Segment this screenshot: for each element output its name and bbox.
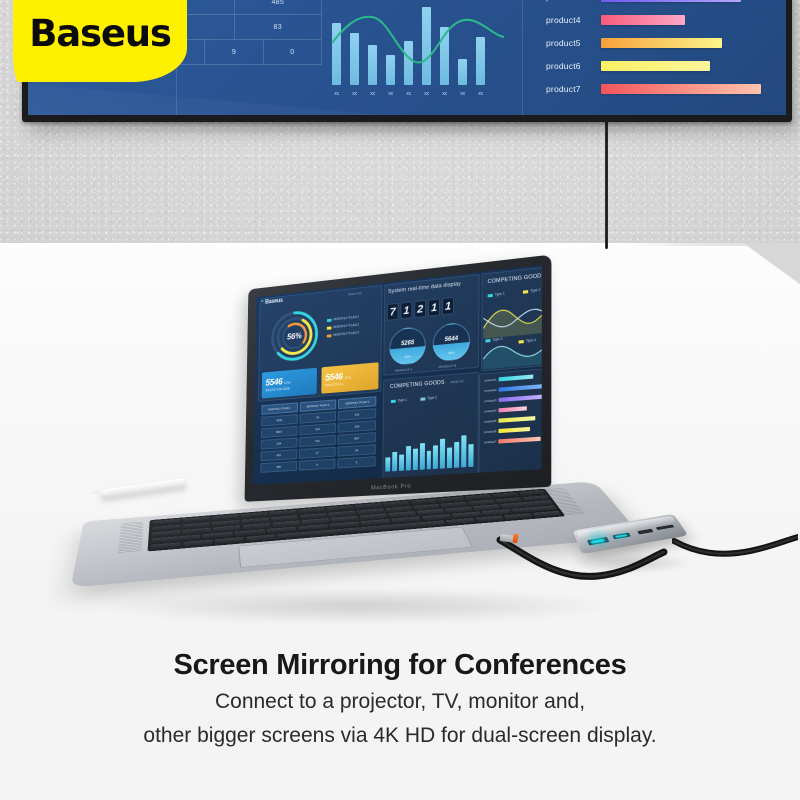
legend-swatch xyxy=(327,334,332,337)
legend-label: MONTHLY PLAN 2 xyxy=(333,323,359,330)
tv-chart-tick: xx xyxy=(404,91,413,97)
table-cell: 0 xyxy=(338,456,376,468)
dashboard-product-track xyxy=(499,383,542,392)
caption-body-line-1: Connect to a projector, TV, monitor and, xyxy=(0,687,800,717)
baseus-logo-text: Baseus xyxy=(29,12,170,55)
tv-shadow xyxy=(28,122,790,138)
tv-product-bar xyxy=(601,15,685,25)
tv-product-row: product6 xyxy=(546,54,786,77)
tv-product-row: product5 xyxy=(546,31,786,54)
table-cell: 9 xyxy=(299,459,336,471)
competing-goods-bar xyxy=(419,443,424,470)
table-cell: 485 xyxy=(235,0,323,15)
dashboard-product-track xyxy=(499,393,542,402)
dashboard-product-label: product4 xyxy=(481,408,499,413)
caption-block: Screen Mirroring for Conferences Connect… xyxy=(0,648,800,750)
tv-product-bar xyxy=(601,0,741,2)
laptop-lid: Baseus xxxxx xxx 56% MONTHLY PLAN 1M xyxy=(245,255,552,502)
table-cell: 234 xyxy=(261,438,297,450)
table-cell: 83 xyxy=(235,15,323,40)
keyboard-key[interactable] xyxy=(151,542,181,549)
tv-product-label: product6 xyxy=(546,61,601,71)
kpi-value: 5546 xyxy=(325,371,342,382)
dashboard-product-label: product3 xyxy=(481,398,499,403)
tv-product-bar xyxy=(601,61,710,71)
tv-product-label: product3 xyxy=(546,0,601,2)
donut-gauge: 56% xyxy=(269,307,319,364)
dashboard-logo-dot xyxy=(262,300,264,302)
legend-label: Type 2 xyxy=(427,395,437,400)
tv-product-bar xyxy=(601,38,722,48)
kpi-card-sales-volume: 5546 12% SALES VOLUME xyxy=(262,368,317,399)
dashboard-product-label: product5 xyxy=(481,419,499,424)
dashboard-product-track xyxy=(498,414,541,423)
table-cell: 318 xyxy=(338,420,376,433)
tv-chart-tick: xx xyxy=(350,91,359,97)
caption-headline: Screen Mirroring for Conferences xyxy=(0,648,800,683)
donut-gauge-value: 56% xyxy=(269,307,319,364)
legend-label: Type 1 xyxy=(398,398,407,403)
keyboard-key[interactable] xyxy=(215,537,245,544)
table-cell: 786 xyxy=(260,461,296,473)
table-header-cell: MONTHLY PLAN 3 xyxy=(338,396,376,409)
tv-chart-tick: xx xyxy=(422,91,431,97)
monthly-plan-table: MONTHLY PLAN 1MONTHLY PLAN 2MONTHLY PLAN… xyxy=(260,396,376,473)
table-cell: 9 xyxy=(205,40,263,65)
tv-chart-tick: xx xyxy=(458,91,467,97)
table-cell: 421 xyxy=(338,408,376,421)
dashboard-product-track xyxy=(498,425,541,434)
tv-chart-trend-line xyxy=(328,0,506,99)
realtime-digit: 1 xyxy=(428,298,440,316)
table-cell: 4556 xyxy=(261,414,297,426)
competing-goods-bar xyxy=(440,439,445,469)
tv-product-label: product5 xyxy=(546,38,601,48)
competing-goods-bar xyxy=(406,446,411,470)
competing-goods-bar xyxy=(468,444,473,467)
tv-chart-tick-labels: xxxxxxxxxxxxxxxxxx xyxy=(332,91,510,97)
keyboard-key[interactable] xyxy=(183,539,213,546)
tv-product-row: product3 xyxy=(546,0,786,8)
kpi-card-practical: 5546 12% PRACTICAL xyxy=(321,362,378,393)
legend-item: MONTHLY PLAN 3 xyxy=(327,331,359,338)
legend-swatch xyxy=(327,326,332,329)
tv-chart-tick: xx xyxy=(440,91,449,97)
competing-goods-bar xyxy=(385,458,390,472)
legend-swatch xyxy=(523,290,528,294)
tv-product-track xyxy=(601,84,786,94)
tv-product-bar xyxy=(601,84,761,94)
legend-swatch xyxy=(485,338,490,342)
hub-port-hdmi[interactable] xyxy=(637,529,653,535)
baseus-logo: Baseus xyxy=(13,0,187,82)
tv-product-row: product7 xyxy=(546,77,786,100)
competing-goods-bar xyxy=(447,447,452,468)
dashboard-product-bar xyxy=(498,436,540,443)
hub-output-cable xyxy=(672,523,798,571)
dashboard-product-track xyxy=(498,435,542,444)
dashboard-product-bar xyxy=(499,384,542,392)
table-cell: 0 xyxy=(264,40,322,65)
dashboard-product-bar xyxy=(498,416,535,423)
dashboard-product-track xyxy=(499,372,542,382)
competing-goods-bar xyxy=(392,452,397,471)
legend-swatch xyxy=(420,397,425,400)
water-gauge-percent: 45% xyxy=(448,350,454,355)
caption-body-line-2: other bigger screens via 4K HD for dual-… xyxy=(0,721,800,751)
tv-product-label: product7 xyxy=(546,84,601,94)
realtime-digit: 2 xyxy=(414,300,426,318)
tv-product-track xyxy=(601,38,786,48)
tv-product-track xyxy=(601,15,786,25)
tv-chart-tick: xx xyxy=(476,91,485,97)
legend-swatch xyxy=(391,399,396,402)
dashboard-product-bar xyxy=(499,374,534,381)
keyboard-key[interactable] xyxy=(532,511,561,518)
table-body: 4556764215967234318234712887453172478690 xyxy=(260,408,376,473)
table-cell: 453 xyxy=(261,449,297,461)
tv-product-label: product4 xyxy=(546,15,601,25)
table-cell: 887 xyxy=(338,432,376,444)
tv-product-track xyxy=(601,0,786,2)
dashboard-product-label: product6 xyxy=(481,429,499,434)
table-cell: 712 xyxy=(299,435,336,447)
water-gauge-percent: 45% xyxy=(404,354,410,359)
realtime-digit: 7 xyxy=(387,303,399,321)
competing-goods-bar-chart xyxy=(385,407,473,472)
realtime-digit: 1 xyxy=(442,297,454,315)
tv-chart-tick: xx xyxy=(386,91,395,97)
kpi-percent: 12% xyxy=(284,381,290,385)
competing-goods-bar xyxy=(399,455,404,471)
dashboard-product-track xyxy=(499,404,542,413)
table-header-cell: MONTHLY PLAN 2 xyxy=(299,399,336,412)
table-cell: 5967 xyxy=(261,426,297,438)
water-gauge-value: 5644 xyxy=(445,335,459,342)
tv-product-track xyxy=(601,61,786,71)
legend-swatch xyxy=(488,293,493,297)
wave-chart-upper xyxy=(483,293,542,338)
legend-swatch xyxy=(519,340,524,344)
realtime-digit: 1 xyxy=(400,301,412,319)
desk-edge xyxy=(0,243,800,246)
keyboard-key[interactable] xyxy=(246,534,276,541)
dashboard-product-label: product2 xyxy=(481,388,499,393)
tv-product-row: product4 xyxy=(546,8,786,31)
legend-item: MONTHLY PLAN 2 xyxy=(327,323,359,330)
table-cell: 17 xyxy=(299,447,336,459)
dashboard-legend: MONTHLY PLAN 1MONTHLY PLAN 2MONTHLY PLAN… xyxy=(327,315,360,342)
table-header-cell: MONTHLY PLAN 1 xyxy=(261,402,297,414)
dashboard-product-bar xyxy=(499,406,527,413)
competing-goods-bar xyxy=(461,435,466,467)
competing-goods-bar xyxy=(433,446,438,469)
dashboard-product-bars: product1product2product3product4product5… xyxy=(481,369,542,447)
legend-label: MONTHLY PLAN 3 xyxy=(333,331,359,337)
dashboard-product-label: product7 xyxy=(481,439,499,444)
laptop-screen: Baseus xxxxx xxx 56% MONTHLY PLAN 1M xyxy=(253,265,542,485)
competing-goods-bar xyxy=(454,442,459,468)
tv-product-bar-chart: product3product4product5product6product7 xyxy=(546,0,786,100)
dashboard: Baseus xxxxx xxx 56% MONTHLY PLAN 1M xyxy=(253,265,542,485)
tv-chart-tick: xx xyxy=(368,91,377,97)
kpi-percent: 12% xyxy=(344,376,350,380)
competing-goods-bar xyxy=(426,451,431,469)
tv-chart-tick: xx xyxy=(332,91,341,97)
kpi-value: 5546 xyxy=(265,377,282,388)
tv-cable xyxy=(605,121,608,249)
legend-swatch xyxy=(327,318,332,321)
competing-goods-bar xyxy=(413,449,418,470)
dashboard-product-bar xyxy=(499,394,542,402)
table-cell: 234 xyxy=(299,423,336,435)
dashboard-product-bar xyxy=(498,427,529,434)
water-gauge-value: 5265 xyxy=(401,340,414,347)
desk-corner xyxy=(730,243,800,289)
tv-bar-line-chart: xxxxxxxxxxxxxxxxxx xyxy=(328,0,506,99)
table-cell: 24 xyxy=(338,444,376,456)
hub-led-glow xyxy=(585,528,611,548)
dashboard-product-label: product1 xyxy=(481,377,499,383)
table-cell: 76 xyxy=(299,411,336,424)
keyboard-key[interactable] xyxy=(446,518,476,525)
